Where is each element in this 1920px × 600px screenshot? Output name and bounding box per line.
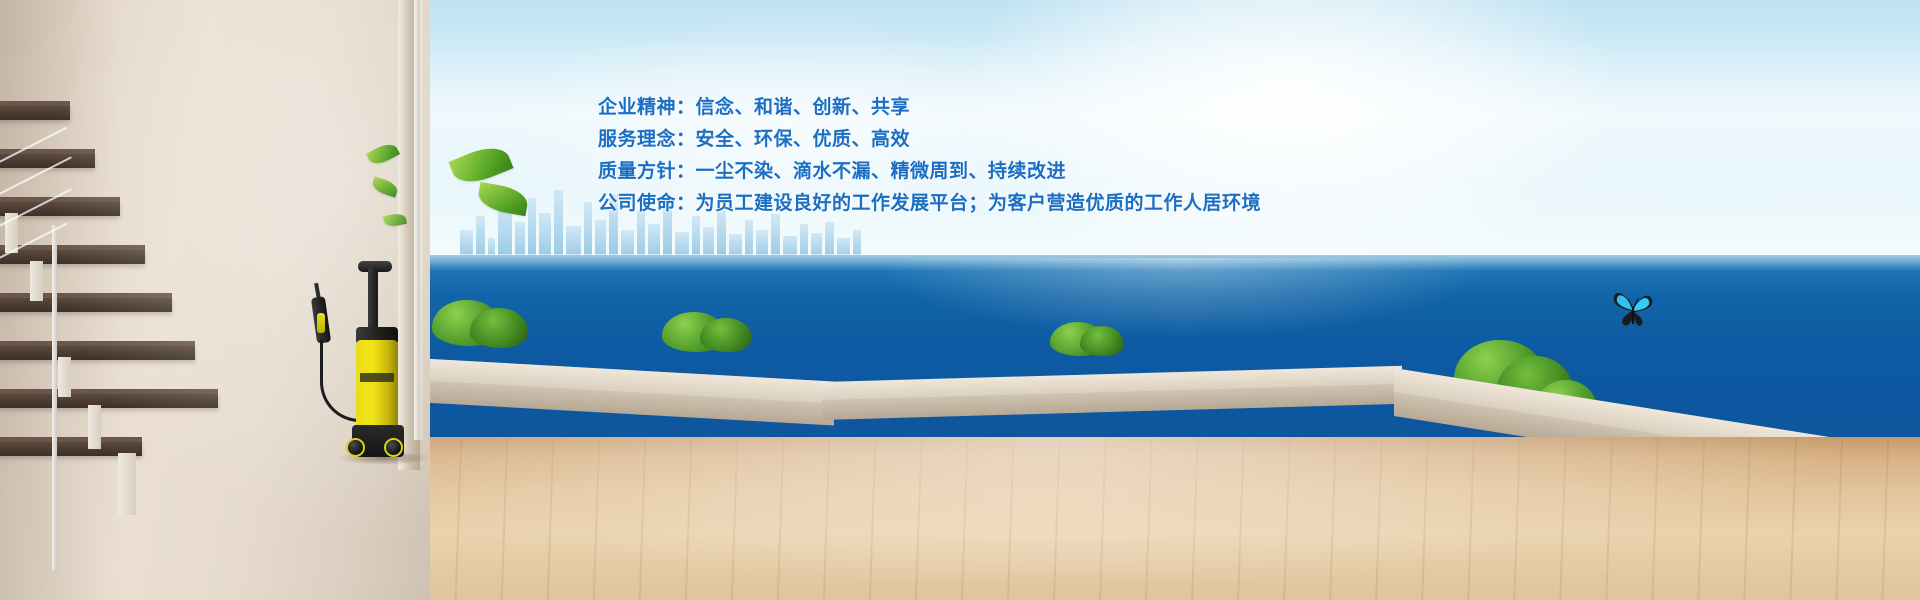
floor-light-reflection: [430, 437, 1920, 600]
washer-label: [360, 373, 394, 382]
pressure-washer: [312, 255, 422, 460]
culture-line-mission: 公司使命：为员工建设良好的工作发展平台；为客户营造优质的工作人居环境: [598, 188, 1358, 220]
culture-line-spirit: 企业精神：信念、和谐、创新、共享: [598, 92, 1358, 124]
sea-shine: [866, 258, 1499, 338]
blue-butterfly-icon: [1610, 285, 1656, 331]
company-culture-banner: 企业精神：信念、和谐、创新、共享 服务理念：安全、环保、优质、高效 质量方针：一…: [0, 0, 1920, 600]
washer-handle: [368, 267, 378, 333]
wall-shadow: [0, 0, 120, 600]
foliage-bush: [470, 308, 528, 348]
foliage-bush: [700, 318, 752, 352]
culture-line-service: 服务理念：安全、环保、优质、高效: [598, 124, 1358, 156]
washer-body: [356, 340, 398, 435]
culture-text-block: 企业精神：信念、和谐、创新、共享 服务理念：安全、环保、优质、高效 质量方针：一…: [598, 92, 1358, 220]
floating-staircase: [0, 95, 215, 515]
washer-wheel: [346, 438, 365, 457]
culture-line-quality: 质量方针：一尘不染、滴水不漏、精微周到、持续改进: [598, 156, 1358, 188]
washer-wheel: [384, 438, 403, 457]
stair-rail-post: [52, 225, 57, 570]
washer-trigger: [317, 313, 325, 333]
